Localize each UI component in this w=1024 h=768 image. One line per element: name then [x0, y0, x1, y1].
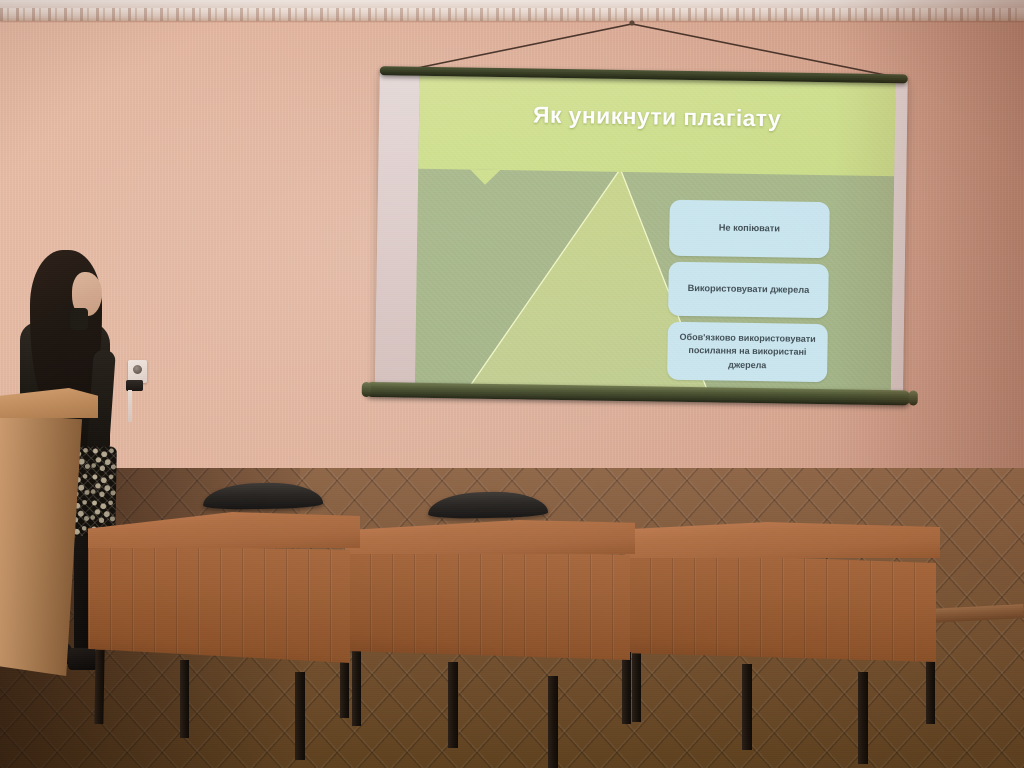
desk-leg [352, 648, 361, 726]
desk-top [625, 522, 940, 558]
projector-screen: Як уникнути плагіату Не копіювати Викори… [366, 60, 920, 429]
presenter-neck [70, 308, 88, 330]
lectern [0, 388, 100, 728]
slide-step-box: Використовувати джерела [668, 262, 829, 319]
lectern-body [0, 414, 82, 676]
desk-leg [295, 672, 305, 760]
socket-hole [133, 365, 142, 374]
desk-leg [180, 660, 189, 738]
lectern-base [0, 670, 96, 722]
lectern-top [0, 388, 98, 418]
slide-step-box: Не копіювати [669, 200, 830, 259]
slide-step-list: Не копіювати Використовувати джерела Обо… [667, 200, 830, 388]
desk-leg [548, 676, 558, 768]
screen-roller-cap-right [909, 390, 918, 405]
screen-left-blank-strip [375, 73, 420, 389]
desk-leg [448, 662, 458, 748]
slide-step-box: Обов'язково використовувати посилання на… [667, 322, 828, 383]
desk-leg [622, 652, 631, 724]
presentation-photo: Як уникнути плагіату Не копіювати Викори… [0, 0, 1024, 768]
screen-fabric: Як уникнути плагіату Не копіювати Викори… [375, 73, 908, 396]
desk-front-panel [348, 548, 630, 660]
desk-front-panel [628, 552, 936, 662]
desk-leg [742, 664, 752, 750]
projected-slide: Як уникнути плагіату Не копіювати Викори… [415, 74, 896, 396]
desk-leg [632, 648, 641, 722]
desk-front-panel [88, 545, 350, 663]
desk-leg [858, 672, 868, 764]
screen-roller-cap-left [362, 382, 371, 397]
